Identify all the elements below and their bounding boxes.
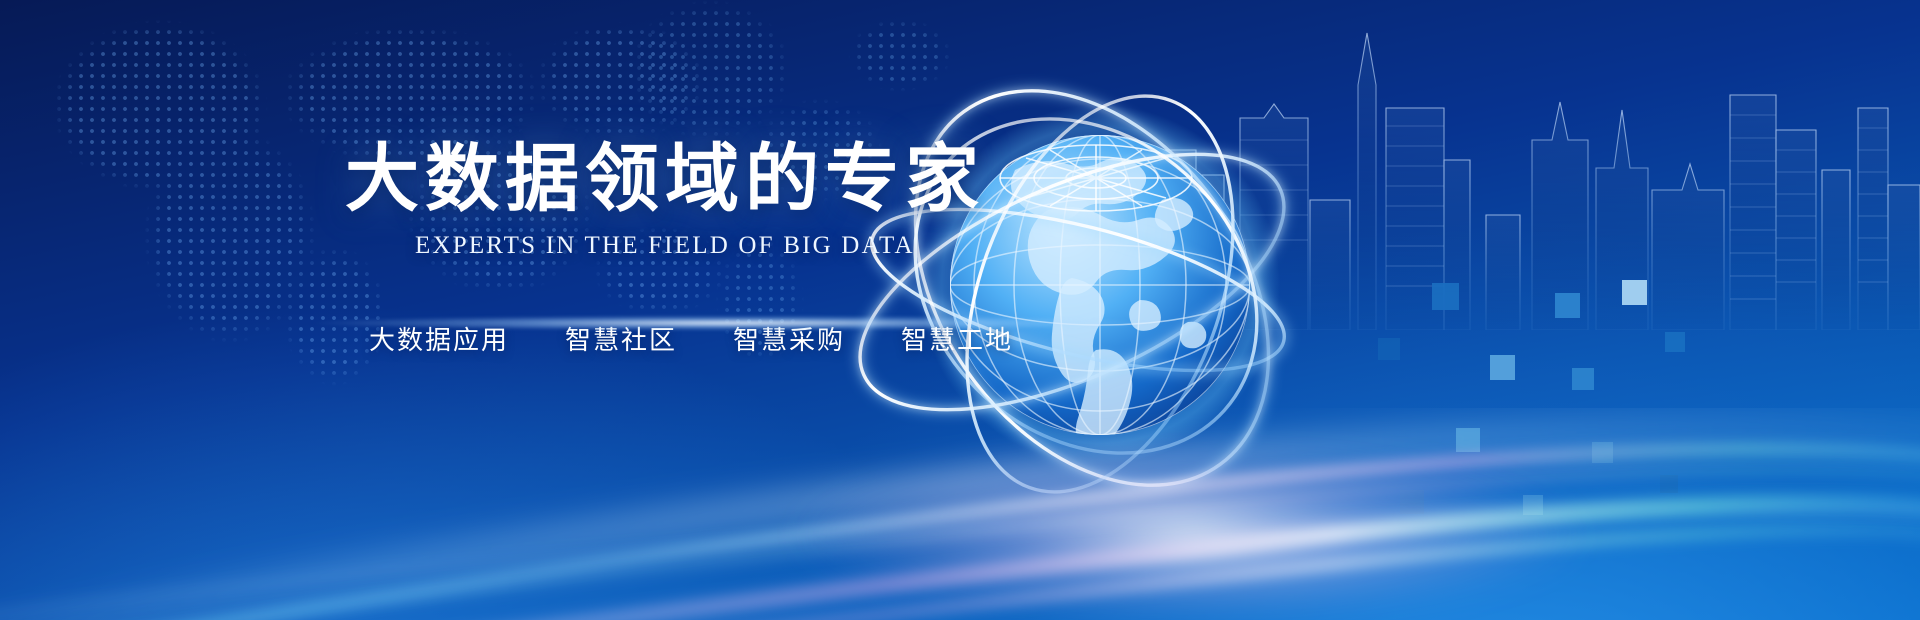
pixel-square-2 — [1622, 280, 1647, 305]
pixel-square-7 — [1456, 428, 1480, 452]
page-subtitle: EXPERTS IN THE FIELD OF BIG DATA — [415, 232, 965, 260]
hero-text-block: 大数据领域的专家 EXPERTS IN THE FIELD OF BIG DAT… — [345, 140, 965, 357]
pixel-square-4 — [1490, 355, 1515, 380]
glow-divider — [15, 310, 1255, 336]
page-title: 大数据领域的专家 — [345, 140, 965, 218]
pixel-square-5 — [1572, 368, 1594, 390]
pixel-square-1 — [1555, 293, 1580, 318]
pixel-square-3 — [1378, 338, 1400, 360]
pixel-square-10 — [1523, 495, 1543, 515]
pixel-square-9 — [1400, 490, 1424, 514]
pixel-square-6 — [1665, 332, 1685, 352]
pixel-square-8 — [1592, 442, 1613, 463]
pixel-square-11 — [1660, 475, 1678, 493]
banner-hero: 大数据领域的专家 EXPERTS IN THE FIELD OF BIG DAT… — [0, 0, 1920, 620]
pixel-squares-icon — [1360, 280, 1920, 620]
pixel-square-0 — [1432, 283, 1459, 310]
